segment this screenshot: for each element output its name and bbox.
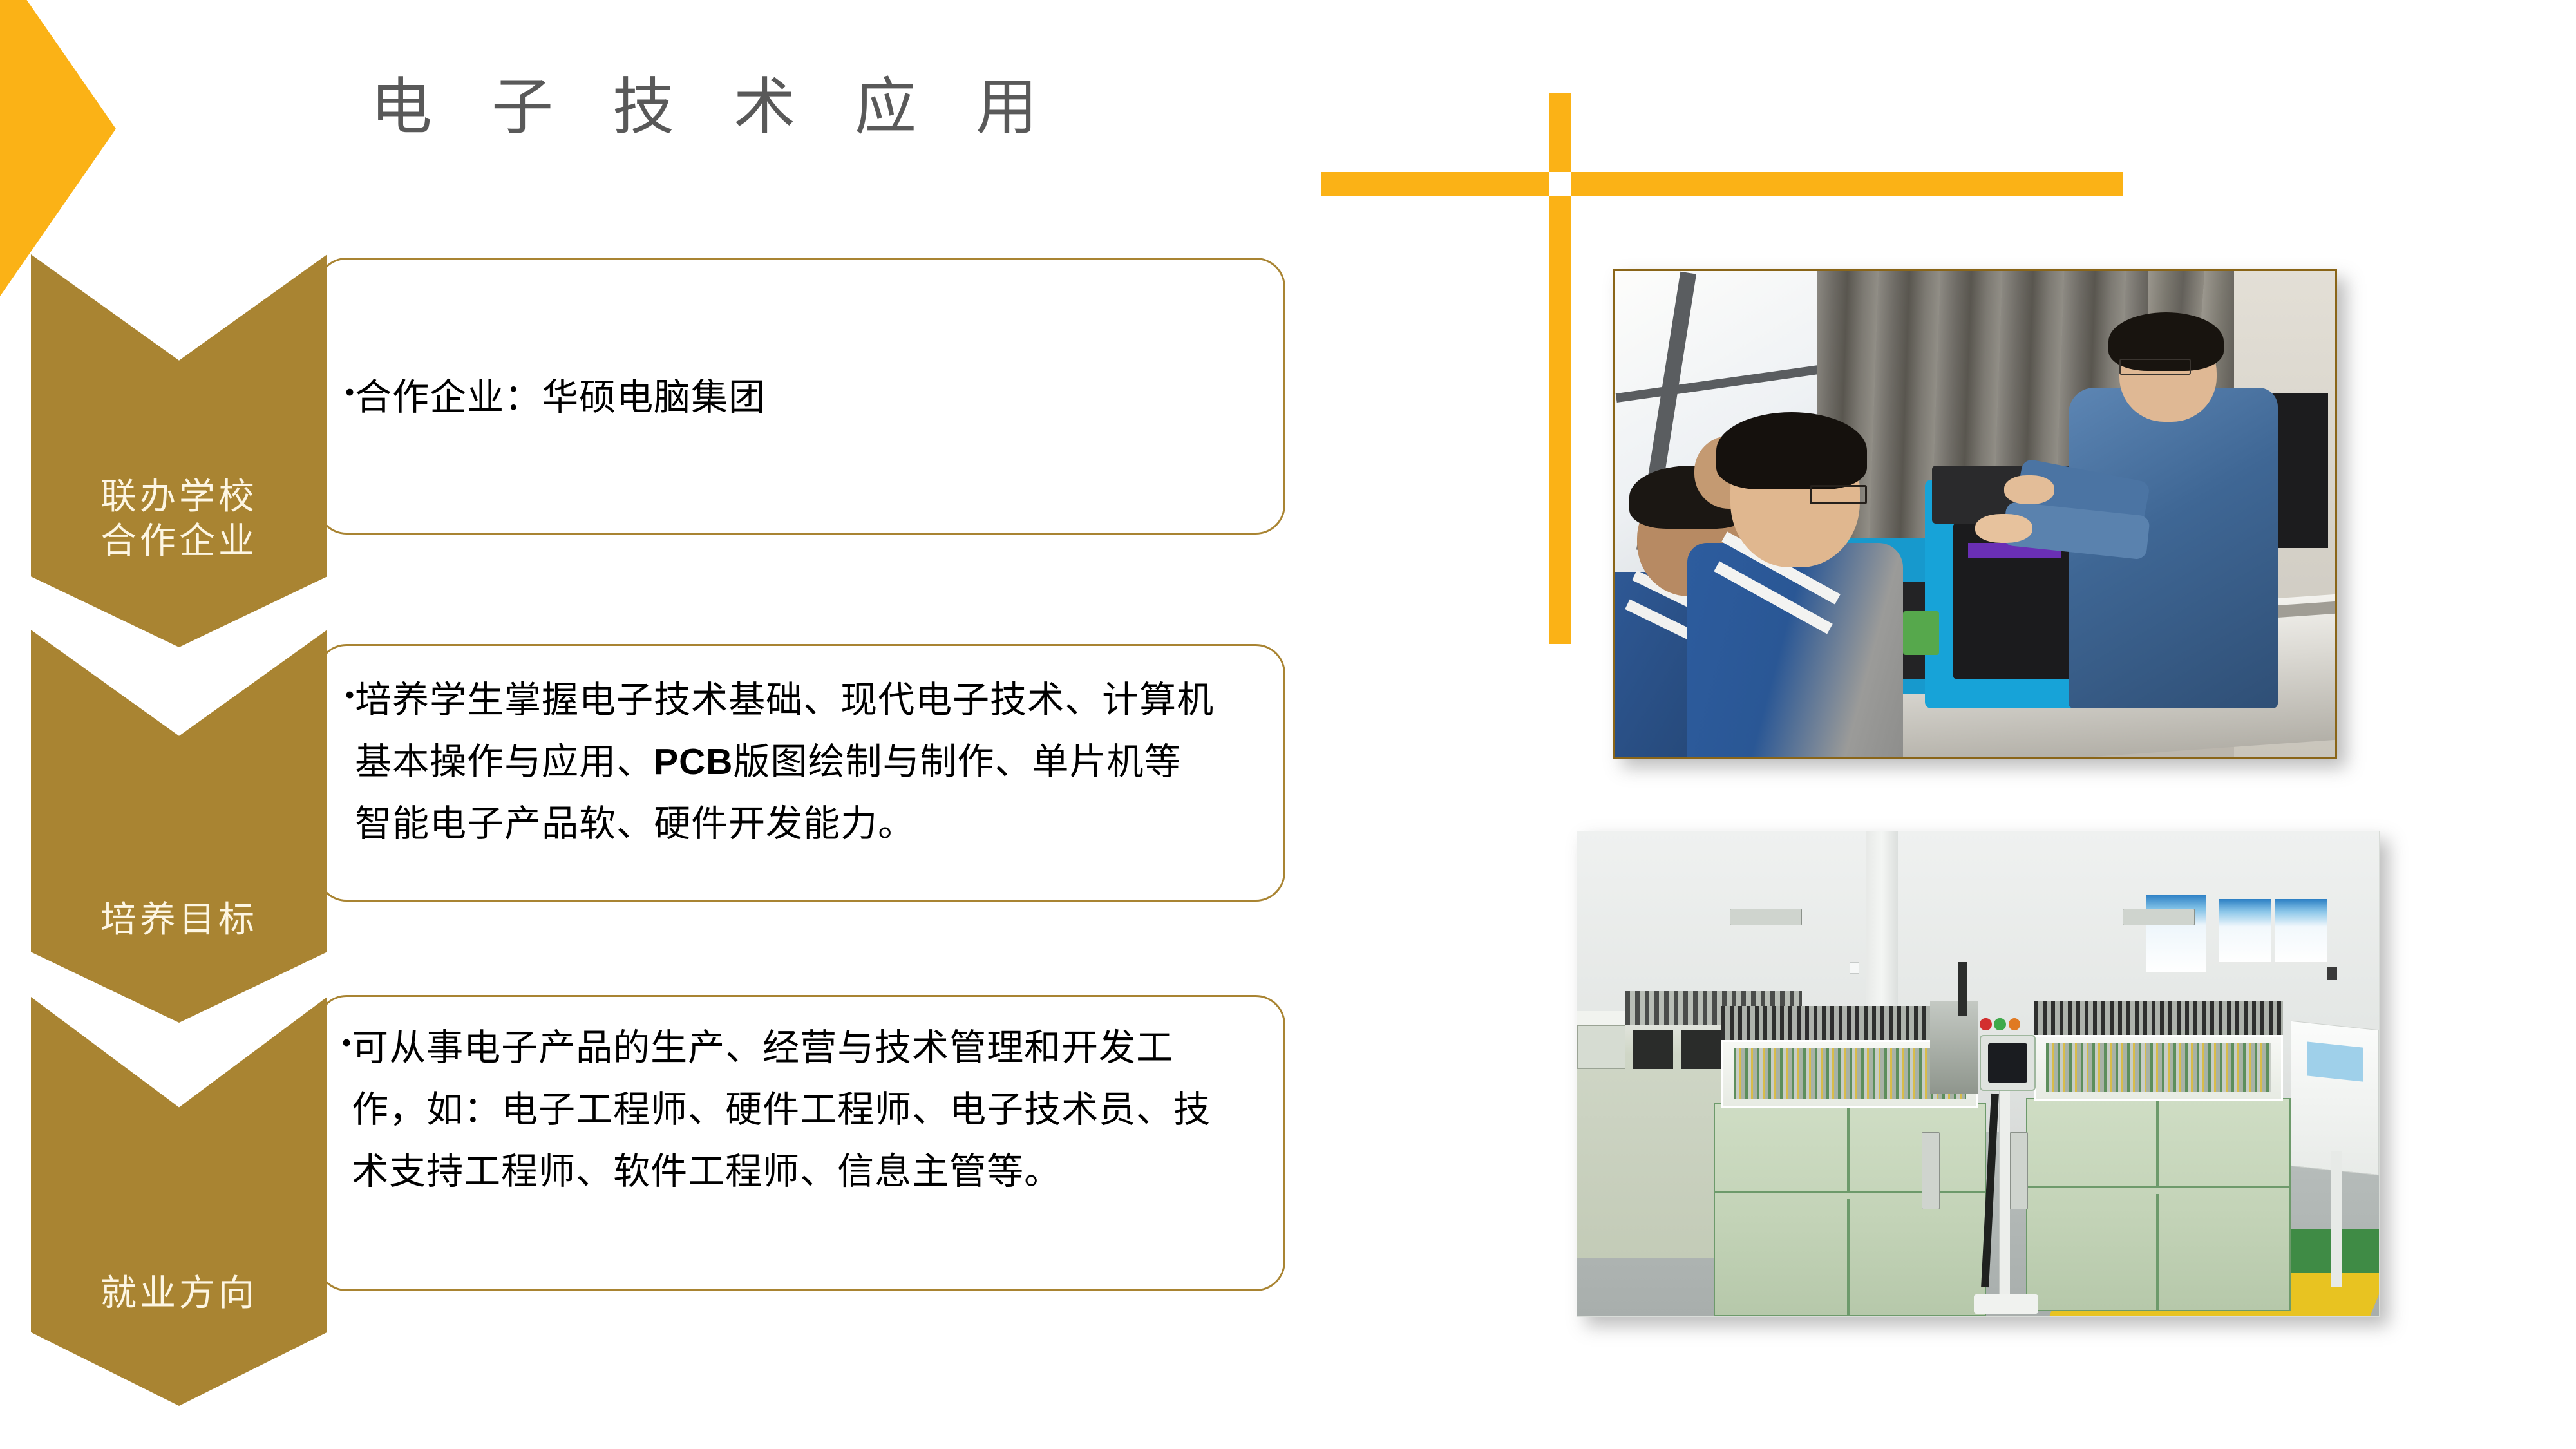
wall-poster-2 [2219, 899, 2271, 962]
chevron-step-3-label: 就业方向 [100, 1272, 258, 1316]
bullet-text-3: 可从事电子产品的生产、经营与技术管理和开发工作，如：电子工程师、硬件工程师、电子… [352, 1018, 1221, 1202]
wall-poster-1 [2146, 895, 2206, 972]
orange-cross-horizontal-bar [1321, 172, 2123, 196]
hmi-stand-pole [1999, 1084, 2010, 1307]
orange-diamond-decoration [0, 0, 116, 296]
cabinet-handle-left-2 [2010, 1132, 2027, 1209]
bullet-dot-icon: • [345, 670, 355, 710]
chevron-step-2-label: 培养目标 [100, 898, 258, 942]
chevron-step-3: 就业方向 [31, 997, 327, 1406]
wall-poster-3 [2275, 899, 2327, 962]
chevron-step-1: 联办学校 合作企业 [31, 254, 327, 647]
push-button-red [1980, 1018, 1992, 1031]
page-title: 电 子 技 术 应 用 [370, 57, 1059, 146]
connector-bank-right [2034, 1001, 2283, 1040]
chevron-step-1-label-line-1: 联办学校 [100, 475, 258, 519]
lectern-document [2307, 1042, 2363, 1082]
hmi-touch-panel [1980, 1035, 2036, 1091]
photo-electronics-lab [1577, 831, 2380, 1317]
teacher-glasses [2119, 359, 2192, 375]
bench-divider-vertical-top [1847, 1104, 1850, 1191]
bullet-item-3: • 可从事电子产品的生产、经营与技术管理和开发工作，如：电子工程师、硬件工程师、… [341, 1018, 1275, 1202]
drawer-handle-left-2 [2123, 909, 2195, 925]
bench-divider-vertical-top [2156, 1099, 2159, 1186]
wall-switch [1850, 962, 1859, 974]
training-board-tray-right [2034, 1035, 2283, 1101]
student-2-glasses [1810, 485, 1867, 504]
background-instrument-3 [1681, 1030, 1721, 1069]
hmi-stand-base [1974, 1294, 2038, 1314]
teacher-hand-upper [2004, 475, 2054, 504]
bench-divider-vertical-bottom [1847, 1199, 1850, 1315]
bullet-item-1: • 合作企业：华硕电脑集团 [345, 367, 1259, 429]
bench-divider-horizontal [2027, 1186, 2289, 1188]
bench-divider-horizontal [1715, 1191, 1985, 1193]
workbench-left [1714, 1103, 1986, 1316]
green-filament-spool [1903, 611, 1939, 655]
lectern-leg [2331, 1151, 2342, 1287]
chevron-step-2: 培养目标 [31, 630, 327, 1023]
orange-cross-center-gap [1549, 172, 1571, 196]
background-instrument-2 [1633, 1030, 1673, 1069]
student-2-hair [1716, 412, 1868, 490]
wall-socket [2327, 967, 2337, 980]
chevron-step-1-label-line-2: 合作企业 [100, 520, 258, 563]
background-instrument-1 [1577, 1025, 1625, 1069]
photo-classroom-3d-printer [1613, 269, 2337, 759]
pneumatic-assembly [1930, 1001, 1978, 1094]
teacher-hand-lower [1975, 514, 2032, 543]
photo-1-content [1615, 271, 2335, 757]
cabinet-handle-left-1 [1922, 1132, 1939, 1209]
hmi-screen [1988, 1043, 2028, 1083]
bullet-text-1: 合作企业：华硕电脑集团 [355, 367, 1211, 429]
workbench-right [2026, 1098, 2291, 1311]
bench-divider-vertical-bottom [2156, 1194, 2159, 1310]
bullet-text-2-part-2-bold: PCB [654, 741, 733, 782]
bullet-dot-icon: • [345, 367, 355, 407]
pcb-module-right [2046, 1043, 2271, 1093]
bullet-dot-icon: • [341, 1018, 352, 1057]
drawer-handle-left-1 [1730, 909, 1802, 925]
bullet-item-2: • 培养学生掌握电子技术基础、现代电子技术、计算机基本操作与应用、PCB版图绘制… [345, 670, 1272, 855]
bullet-text-2: 培养学生掌握电子技术基础、现代电子技术、计算机基本操作与应用、PCB版图绘制与制… [355, 670, 1218, 855]
signal-tower-antenna [1958, 962, 1967, 1016]
photo-2-content [1577, 831, 2379, 1316]
